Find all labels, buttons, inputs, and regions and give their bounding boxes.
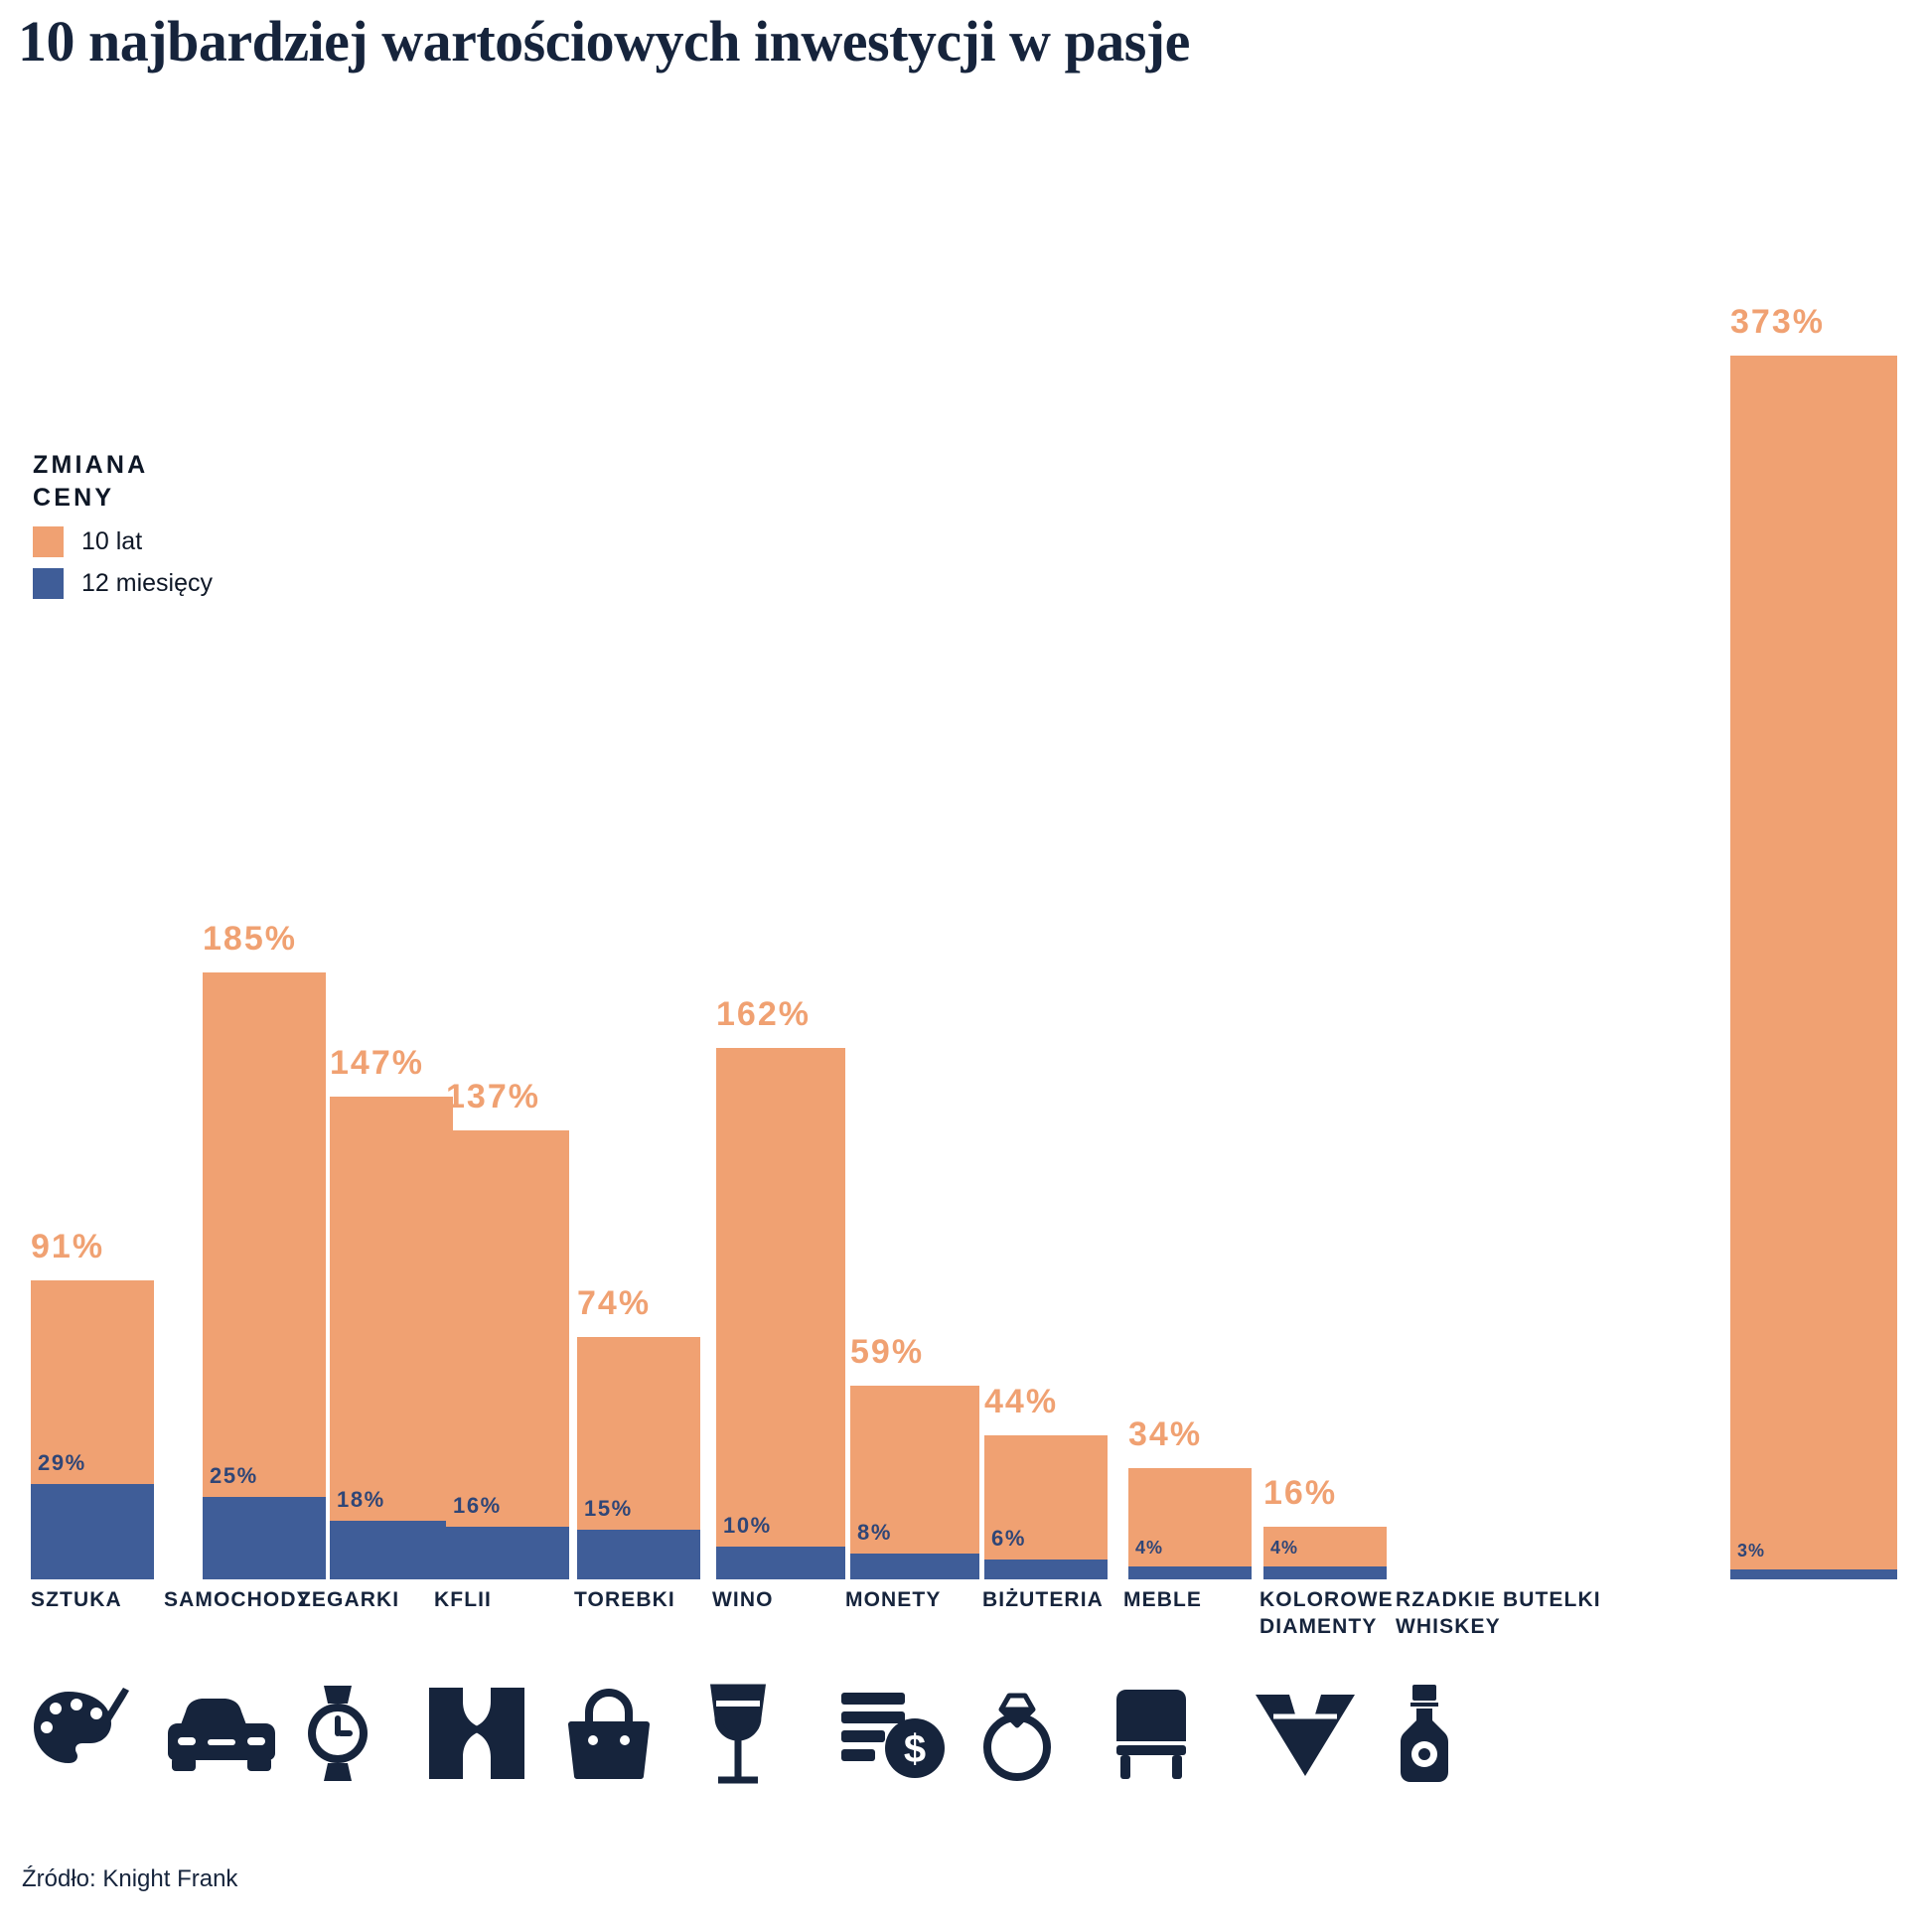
category-axis: SZTUKASAMOCHODYZEGARKIKFLIITOREBKIWINOMO…: [0, 1586, 1927, 1666]
bar-group: 162%10%: [716, 0, 845, 1579]
category-label: TOREBKI: [574, 1586, 675, 1613]
bar-segment-10-lat: [1128, 1468, 1252, 1579]
watch-icon: [298, 1679, 417, 1788]
bar-group: 16%4%: [1263, 0, 1387, 1579]
svg-text:$: $: [904, 1727, 926, 1771]
palette-icon: [31, 1679, 150, 1788]
category-label: BIŻUTERIA: [982, 1586, 1104, 1613]
bar-value-label-10-lat: 59%: [850, 1333, 924, 1372]
bar-group: 59%8%: [850, 0, 979, 1579]
wine-glass-icon: [700, 1679, 819, 1788]
category-label: SZTUKA: [31, 1586, 122, 1613]
diamond-quad-icon: [427, 1679, 546, 1788]
ring-icon: [971, 1679, 1091, 1788]
bar-segment-10-lat: [984, 1435, 1108, 1579]
bar-segment-12-miesiecy: [850, 1554, 979, 1579]
bar-group: 91%29%: [31, 0, 154, 1579]
category-label: MONETY: [845, 1586, 941, 1613]
bar-group: 147%18%: [330, 0, 453, 1579]
bar-value-label-10-lat: 44%: [984, 1383, 1058, 1421]
bar-segment-10-lat: [1730, 356, 1897, 1579]
bar-segment-12-miesiecy: [203, 1497, 326, 1579]
bar-value-label-12-miesiecy: 29%: [38, 1450, 86, 1476]
bar-value-label-10-lat: 34%: [1128, 1415, 1202, 1454]
source-note: Źródło: Knight Frank: [22, 1865, 237, 1893]
bar-value-label-12-miesiecy: 25%: [210, 1463, 258, 1489]
bar-value-label-10-lat: 162%: [716, 995, 811, 1034]
bar-segment-12-miesiecy: [716, 1547, 845, 1579]
category-label: ZEGARKI: [298, 1586, 399, 1613]
bar-value-label-10-lat: 137%: [446, 1078, 540, 1116]
bar-segment-12-miesiecy: [577, 1530, 700, 1579]
bar-chart-plot-area: 91%29%185%25%147%18%137%16%74%15%162%10%…: [0, 0, 1927, 1579]
bar-group: 74%15%: [577, 0, 700, 1579]
bar-segment-10-lat: [716, 1048, 845, 1579]
bar-value-label-10-lat: 16%: [1263, 1474, 1337, 1513]
bar-value-label-12-miesiecy: 10%: [723, 1513, 772, 1539]
gem-icon: [1254, 1679, 1373, 1788]
bar-value-label-12-miesiecy: 15%: [584, 1496, 633, 1522]
bar-value-label-10-lat: 74%: [577, 1284, 651, 1323]
bar-segment-12-miesiecy: [330, 1521, 453, 1579]
bar-value-label-12-miesiecy: 6%: [991, 1526, 1026, 1552]
bar-segment-10-lat: [850, 1386, 979, 1579]
bar-value-label-10-lat: 91%: [31, 1228, 104, 1266]
category-label: KOLOROWE DIAMENTY: [1260, 1586, 1394, 1640]
bar-group: 373%3%: [1730, 0, 1897, 1579]
whiskey-bottle-icon: [1389, 1679, 1508, 1788]
bar-value-label-10-lat: 373%: [1730, 303, 1825, 342]
category-label: SAMOCHODY: [164, 1586, 312, 1613]
chair-icon: [1112, 1679, 1232, 1788]
bar-group: 34%4%: [1128, 0, 1252, 1579]
category-label: KFLII: [434, 1586, 492, 1613]
bar-value-label-12-miesiecy: 3%: [1737, 1541, 1765, 1561]
bar-segment-12-miesiecy: [1128, 1566, 1252, 1579]
category-icon-row: $: [0, 1679, 1927, 1798]
car-icon: [164, 1679, 283, 1788]
bar-value-label-10-lat: 147%: [330, 1044, 424, 1083]
bar-segment-12-miesiecy: [984, 1560, 1108, 1579]
handbag-icon: [561, 1679, 680, 1788]
bar-group: 137%16%: [446, 0, 569, 1579]
bar-value-label-10-lat: 185%: [203, 920, 297, 959]
category-label: MEBLE: [1123, 1586, 1202, 1613]
bar-segment-12-miesiecy: [1263, 1566, 1387, 1579]
bar-segment-12-miesiecy: [31, 1484, 154, 1579]
coins-icon: $: [839, 1679, 959, 1788]
bar-group: 44%6%: [984, 0, 1108, 1579]
category-label: WINO: [712, 1586, 774, 1613]
bar-value-label-12-miesiecy: 8%: [857, 1520, 892, 1546]
bar-segment-12-miesiecy: [1730, 1569, 1897, 1579]
bar-value-label-12-miesiecy: 4%: [1270, 1538, 1298, 1559]
bar-value-label-12-miesiecy: 18%: [337, 1487, 385, 1513]
bar-value-label-12-miesiecy: 16%: [453, 1493, 502, 1519]
bar-segment-12-miesiecy: [446, 1527, 569, 1579]
bar-group: 185%25%: [203, 0, 326, 1579]
bar-value-label-12-miesiecy: 4%: [1135, 1538, 1163, 1559]
category-label: RZADKIE BUTELKI WHISKEY: [1396, 1586, 1601, 1640]
